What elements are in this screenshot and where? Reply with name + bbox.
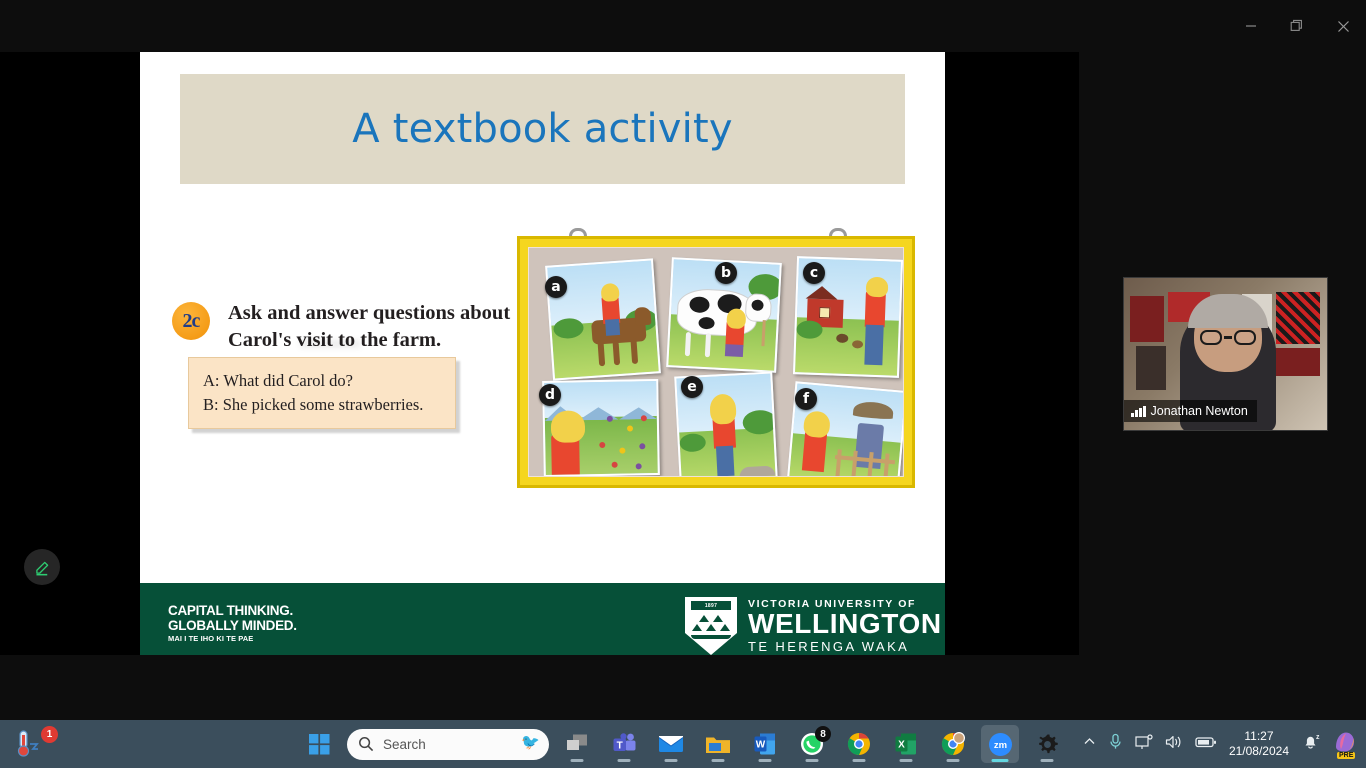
taskbar-app-microsoft-excel[interactable]: X [887, 725, 925, 763]
signal-bars-icon [1131, 406, 1146, 417]
wall-poster [1276, 292, 1320, 344]
copilot-icon[interactable]: PRE [1332, 729, 1358, 760]
display-icon[interactable] [1135, 734, 1153, 755]
exercise-instruction: Ask and answer questions about Carol's v… [228, 300, 528, 355]
minimize-button[interactable] [1228, 10, 1274, 42]
dialog-line-b: B: She picked some strawberries. [203, 393, 455, 417]
presentation-slide: A textbook activity 2c Ask and answer qu… [140, 52, 945, 655]
gear-icon [1036, 733, 1059, 756]
tagline-line-2: GLOBALLY MINDED. [168, 618, 297, 633]
participant-video-tile[interactable]: Jonathan Newton [1123, 277, 1328, 431]
taskbar-app-google-chrome-profile[interactable] [934, 725, 972, 763]
chevron-up-icon[interactable] [1083, 735, 1096, 753]
taskbar-app-microsoft-word[interactable]: W [746, 725, 784, 763]
participant-name: Jonathan Newton [1151, 404, 1248, 418]
taskbar-app-file-explorer[interactable] [699, 725, 737, 763]
taskbar-center-group: Search 🐦 T [300, 720, 1066, 768]
photo-board: a [517, 228, 915, 488]
svg-text:z: z [1316, 734, 1320, 741]
excel-icon: X [895, 732, 917, 756]
chrome-icon [847, 732, 871, 756]
taskbar-app-task-view[interactable] [558, 725, 596, 763]
windows-start-icon [309, 734, 330, 755]
window-title-bar [0, 0, 1366, 52]
annotate-button[interactable] [24, 549, 60, 585]
svg-text:X: X [898, 740, 905, 751]
whatsapp-badge: 8 [815, 726, 831, 742]
photo-label-c: c [803, 262, 825, 284]
tagline-maori: MAI I TE IHO KI TE PAE [168, 634, 297, 643]
slide-title-band: A textbook activity [180, 74, 905, 184]
wall-poster [1130, 296, 1164, 342]
shared-screen-stage: A textbook activity 2c Ask and answer qu… [0, 52, 1079, 655]
close-button[interactable] [1320, 10, 1366, 42]
board-surface: a [528, 247, 904, 477]
page-title: A textbook activity [352, 106, 732, 152]
teams-icon: T [612, 732, 637, 756]
microphone-icon[interactable] [1108, 733, 1123, 755]
battery-icon[interactable] [1195, 735, 1217, 754]
windows-taskbar: 1 Search 🐦 [0, 720, 1366, 768]
taskbar-app-microsoft-teams[interactable]: T [605, 725, 643, 763]
word-icon: W [754, 732, 776, 756]
speaker-icon[interactable] [1165, 734, 1183, 755]
copilot-badge: PRE [1337, 752, 1355, 759]
restore-button[interactable] [1274, 10, 1320, 42]
search-placeholder: Search [383, 737, 426, 752]
exercise-number-badge: 2c [172, 302, 210, 340]
example-dialog-box: A: What did Carol do? B: She picked some… [188, 357, 456, 429]
start-button[interactable] [300, 725, 338, 763]
dialog-line-a: A: What did Carol do? [203, 369, 455, 393]
board-frame: a [517, 236, 915, 488]
clock-date: 21/08/2024 [1229, 744, 1289, 759]
crest-year: 1897 [691, 601, 731, 610]
weather-widget[interactable]: 1 [14, 728, 68, 760]
brand-tagline: CAPITAL THINKING. GLOBALLY MINDED. MAI I… [168, 603, 297, 643]
zoom-icon: zm [988, 732, 1013, 757]
task-view-icon [565, 733, 589, 755]
photo-label-d: d [539, 384, 561, 406]
search-input[interactable]: Search 🐦 [347, 729, 549, 760]
wordmark-line-3: TE HERENGA WAKA [748, 639, 942, 654]
taskbar-app-whatsapp[interactable]: 8 [793, 725, 831, 763]
mail-icon [658, 734, 684, 754]
decorative-smudge [300, 340, 360, 348]
tagline-line-1: CAPITAL THINKING. [168, 603, 297, 618]
university-wordmark: VICTORIA UNIVERSITY OF WELLINGTON TE HER… [748, 598, 942, 654]
photo-a [545, 258, 661, 380]
bell-icon[interactable]: z [1301, 732, 1320, 756]
glasses-icon [1200, 330, 1256, 345]
wall-poster [1274, 348, 1320, 376]
photo-label-a: a [545, 276, 567, 298]
university-logo: 1897 VICTORIA UNIVERSITY OF WELLINGTON T… [685, 597, 942, 655]
photo-label-e: e [681, 376, 703, 398]
bird-icon: 🐦 [521, 733, 540, 751]
clock[interactable]: 11:27 21/08/2024 [1229, 729, 1289, 758]
wall-poster [1136, 346, 1166, 390]
taskbar-app-settings[interactable] [1028, 725, 1066, 763]
clock-time: 11:27 [1229, 729, 1289, 744]
photo-label-b: b [715, 262, 737, 284]
svg-text:W: W [756, 740, 766, 751]
weather-badge: 1 [41, 726, 58, 743]
pencil-icon [33, 558, 52, 577]
chrome-profile-icon [941, 732, 965, 756]
crest-icon: 1897 [685, 597, 737, 655]
wordmark-line-2: WELLINGTON [748, 610, 942, 639]
svg-text:zm: zm [993, 740, 1006, 751]
taskbar-app-mail[interactable] [652, 725, 690, 763]
participant-name-badge: Jonathan Newton [1124, 400, 1257, 422]
slide-footer: CAPITAL THINKING. GLOBALLY MINDED. MAI I… [140, 583, 945, 655]
folder-icon [705, 734, 731, 755]
search-icon [358, 736, 374, 752]
svg-text:T: T [616, 740, 622, 751]
thermometer-icon [14, 728, 42, 758]
photo-label-f: f [795, 388, 817, 410]
taskbar-app-zoom[interactable]: zm [981, 725, 1019, 763]
taskbar-app-google-chrome[interactable] [840, 725, 878, 763]
system-tray: 11:27 21/08/2024 z PRE [1083, 720, 1358, 768]
